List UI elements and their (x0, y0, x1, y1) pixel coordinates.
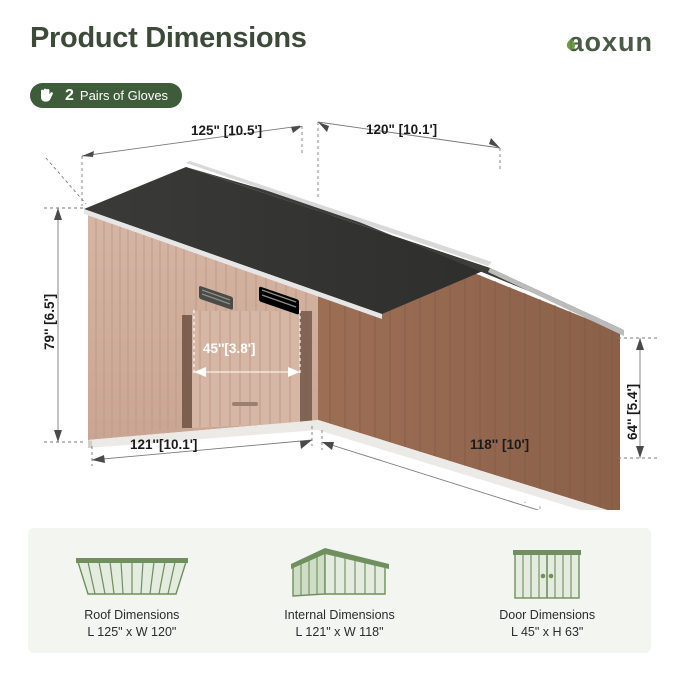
gloves-icon (38, 87, 58, 105)
shed-illustration (0, 110, 679, 510)
dim-base-front: 121''[10.1'] (130, 437, 197, 452)
spec-card: Roof Dimensions L 125" x W 120" (28, 528, 651, 653)
dim-door-width: 45''[3.8'] (203, 341, 255, 356)
dim-roof-front: 125" [10.5'] (191, 123, 262, 138)
dim-height-right: 64'' [5.4'] (625, 384, 640, 440)
door-icon (507, 542, 587, 600)
product-dimensions-page: Product Dimensions aoxun 2 Pairs of Glov… (0, 0, 679, 679)
spec-item-door: Door Dimensions L 45" x H 63" (443, 528, 651, 653)
spec-item-roof: Roof Dimensions L 125" x W 120" (28, 528, 236, 653)
dim-base-side: 118'' [10'] (470, 437, 529, 452)
page-title: Product Dimensions (30, 22, 307, 55)
spec-value: L 125" x W 120" (87, 625, 176, 639)
shed-diagram: 125" [10.5'] 120" [10.1'] 79'' [6.5'] 64… (0, 110, 679, 510)
gloves-badge: 2 Pairs of Gloves (30, 83, 182, 108)
spec-value: L 121" x W 118" (295, 625, 383, 639)
roof-icon (72, 542, 192, 600)
spec-title: Internal Dimensions (284, 608, 394, 622)
spec-item-internal: Internal Dimensions L 121" x W 118" (236, 528, 444, 653)
dim-height-left: 79'' [6.5'] (42, 294, 57, 350)
brand-logo: aoxun (560, 27, 653, 58)
dim-roof-side: 120" [10.1'] (366, 122, 437, 137)
gloves-count: 2 (65, 87, 74, 105)
spec-value: L 45" x H 63" (511, 625, 583, 639)
gloves-label: Pairs of Gloves (80, 88, 168, 103)
spec-title: Roof Dimensions (84, 608, 179, 622)
internal-shed-icon (285, 542, 395, 600)
spec-title: Door Dimensions (499, 608, 595, 622)
